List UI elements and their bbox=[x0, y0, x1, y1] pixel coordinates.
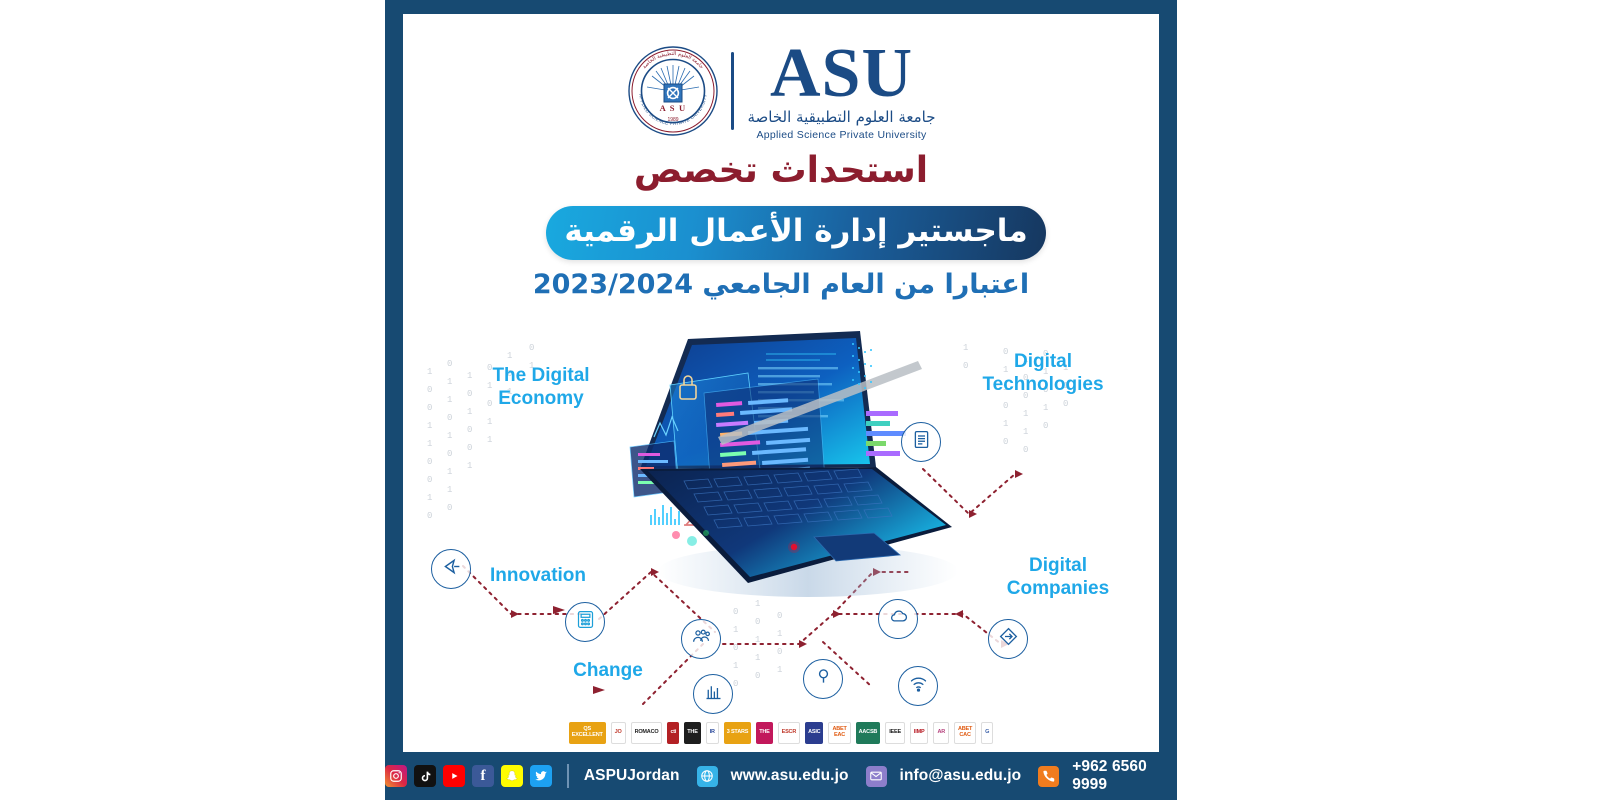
website-url[interactable]: www.asu.edu.jo bbox=[731, 767, 849, 785]
eyebrow-heading: استحداث تخصص bbox=[403, 150, 1159, 191]
accreditation-logo: AR bbox=[933, 722, 949, 744]
document-icon bbox=[911, 429, 932, 455]
chart-node bbox=[693, 674, 733, 714]
tiktok-icon[interactable] bbox=[414, 765, 436, 787]
accreditation-logo: ESCR bbox=[778, 722, 800, 744]
logo-divider bbox=[731, 52, 734, 130]
calculator-node bbox=[565, 602, 605, 642]
accreditation-logo: THE bbox=[756, 722, 772, 744]
keyword-digital-companies: DigitalCompanies bbox=[968, 554, 1148, 600]
accreditation-logo: ROMACO bbox=[631, 722, 663, 744]
keyword-innovation: Innovation bbox=[453, 564, 623, 587]
program-title-pill: ماجستير إدارة الأعمال الرقمية bbox=[546, 206, 1046, 260]
instagram-icon[interactable] bbox=[385, 765, 407, 787]
illustration-stage: 100 110 010 011 010 110 101 001 010 11 1… bbox=[403, 314, 1159, 714]
footer-divider bbox=[567, 764, 569, 788]
poster-canvas: A S U 1989 جامعة العلوم التطبيقية الخاصة… bbox=[403, 14, 1159, 752]
accreditation-logo: QSEXCELLENT bbox=[569, 722, 606, 744]
social-handle: ASPUJordan bbox=[584, 767, 680, 785]
search-node bbox=[803, 659, 843, 699]
cloud-icon bbox=[888, 606, 909, 632]
asu-emblem-icon: A S U 1989 جامعة العلوم التطبيقية الخاصة… bbox=[627, 45, 719, 137]
youtube-icon[interactable] bbox=[443, 765, 465, 787]
accreditation-logo: ASIC bbox=[805, 722, 823, 744]
magnifier-icon bbox=[813, 666, 834, 692]
poster-root: A S U 1989 جامعة العلوم التطبيقية الخاصة… bbox=[0, 0, 1600, 800]
people-node bbox=[681, 619, 721, 659]
keyword-digital-technologies: DigitalTechnologies bbox=[948, 350, 1138, 396]
logo-english-name: Applied Science Private University bbox=[756, 129, 926, 141]
cursor-node bbox=[431, 549, 471, 589]
program-title-text: ماجستير إدارة الأعمال الرقمية bbox=[564, 216, 1027, 251]
footer-contact-bar: f ASPUJordan www.asu.edu.jo info@asu.e bbox=[385, 752, 1177, 800]
accreditation-logo: IIMP bbox=[910, 722, 929, 744]
wifi-node bbox=[898, 666, 938, 706]
diamond-node bbox=[988, 619, 1028, 659]
academic-year-heading: اعتبارا من العام الجامعي 2023/2024 bbox=[403, 269, 1159, 300]
people-group-icon bbox=[691, 626, 712, 652]
snapchat-icon[interactable] bbox=[501, 765, 523, 787]
accreditation-logo: 3 STARS bbox=[724, 722, 751, 744]
document-node bbox=[901, 422, 941, 462]
accreditation-logo: AACSB bbox=[856, 722, 881, 744]
email-address[interactable]: info@asu.edu.jo bbox=[900, 767, 1022, 785]
globe-icon bbox=[697, 766, 718, 787]
accreditation-logo: cti bbox=[667, 722, 679, 744]
calculator-icon bbox=[575, 609, 596, 635]
accreditation-logo: JO bbox=[611, 722, 626, 744]
university-logo: A S U 1989 جامعة العلوم التطبيقية الخاصة… bbox=[403, 36, 1159, 146]
accreditation-logo: ABETCAC bbox=[954, 722, 976, 744]
logo-wordmark: ASU جامعة العلوم التطبيقية الخاصة Applie… bbox=[748, 41, 936, 142]
facebook-icon[interactable]: f bbox=[472, 765, 494, 787]
svg-text:A S U: A S U bbox=[659, 103, 686, 113]
phone-number: +962 6560 9999 bbox=[1072, 758, 1177, 794]
mail-icon bbox=[866, 766, 887, 787]
accreditation-logo: IEEE bbox=[885, 722, 905, 744]
logo-acronym: ASU bbox=[770, 41, 913, 108]
keyword-change: Change bbox=[548, 659, 668, 682]
phone-icon bbox=[1038, 766, 1059, 787]
accreditation-logo: G bbox=[981, 722, 993, 744]
logo-arabic-name: جامعة العلوم التطبيقية الخاصة bbox=[748, 108, 936, 126]
diamond-arrow-icon bbox=[998, 626, 1019, 652]
cloud-node bbox=[878, 599, 918, 639]
accreditation-logo: THE bbox=[684, 722, 700, 744]
bar-chart-icon bbox=[703, 681, 724, 707]
twitter-icon[interactable] bbox=[530, 765, 552, 787]
cursor-icon bbox=[441, 556, 462, 582]
keyword-digital-economy: The DigitalEconomy bbox=[461, 364, 621, 410]
accreditation-logos: QSEXCELLENT JO ROMACO cti THE IR 3 STARS… bbox=[403, 714, 1159, 752]
wifi-icon bbox=[908, 673, 929, 699]
poster-frame: A S U 1989 جامعة العلوم التطبيقية الخاصة… bbox=[385, 0, 1177, 800]
accreditation-logo: ABETEAC bbox=[828, 722, 850, 744]
accreditation-logo: IR bbox=[706, 722, 719, 744]
